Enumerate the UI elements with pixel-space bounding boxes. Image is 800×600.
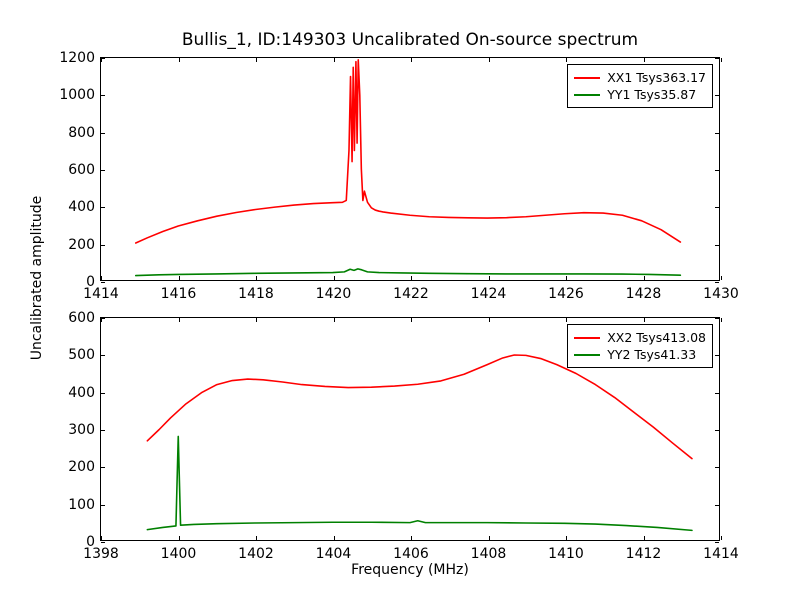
x-tick-bottom-1 [179, 536, 180, 540]
x-tick-top-bottom-4 [411, 318, 412, 322]
x-tick-bottom-3 [334, 536, 335, 540]
x-tick-label-bottom-6: 1410 [548, 546, 584, 562]
legend-swatch-icon [574, 77, 600, 79]
x-tick-top-top-1 [179, 58, 180, 62]
legend-label: XX1 Tsys363.17 [607, 70, 706, 85]
x-tick-top-3 [334, 276, 335, 280]
legend-item-top-0: XX1 Tsys363.17 [574, 69, 706, 86]
legend-item-top-1: YY1 Tsys35.87 [574, 86, 706, 103]
x-tick-label-bottom-7: 1412 [626, 546, 662, 562]
y-tick-bottom-5 [101, 355, 105, 356]
legend-item-bottom-0: XX2 Tsys413.08 [574, 329, 706, 346]
y-tick-label-top-2: 400 [68, 199, 95, 215]
legend-swatch-icon [574, 94, 600, 96]
y-tick-right-top-2 [715, 207, 719, 208]
series-line-bottom-1 [147, 436, 692, 530]
x-tick-top-bottom-6 [566, 318, 567, 322]
x-tick-top-0 [101, 276, 102, 280]
x-tick-top-bottom-8 [721, 318, 722, 322]
x-tick-top-6 [566, 276, 567, 280]
y-tick-label-top-5: 1000 [59, 87, 95, 103]
y-tick-right-top-0 [715, 282, 719, 283]
x-tick-top-bottom-2 [256, 318, 257, 322]
y-tick-right-bottom-0 [715, 542, 719, 543]
y-tick-label-bottom-6: 600 [68, 310, 95, 326]
x-tick-label-bottom-4: 1406 [393, 546, 429, 562]
y-tick-bottom-2 [101, 467, 105, 468]
x-tick-label-bottom-2: 1402 [238, 546, 274, 562]
x-tick-label-top-8: 1430 [703, 286, 739, 302]
x-tick-bottom-2 [256, 536, 257, 540]
x-tick-bottom-7 [644, 536, 645, 540]
legend-top: XX1 Tsys363.17YY1 Tsys35.87 [567, 64, 713, 108]
x-tick-top-top-4 [411, 58, 412, 62]
y-tick-bottom-0 [101, 542, 105, 543]
y-tick-label-bottom-5: 500 [68, 347, 95, 363]
x-tick-top-top-3 [334, 58, 335, 62]
y-tick-right-bottom-2 [715, 467, 719, 468]
y-tick-right-bottom-4 [715, 393, 719, 394]
y-tick-label-top-6: 1200 [59, 50, 95, 66]
y-tick-right-bottom-3 [715, 430, 719, 431]
y-tick-right-top-3 [715, 170, 719, 171]
series-line-bottom-0 [147, 355, 692, 459]
x-tick-top-top-6 [566, 58, 567, 62]
x-tick-top-2 [256, 276, 257, 280]
plot-panel-top: XX1 Tsys363.17YY1 Tsys35.87 020040060080… [100, 57, 720, 281]
x-tick-label-top-7: 1428 [626, 286, 662, 302]
legend-label: XX2 Tsys413.08 [607, 330, 706, 345]
x-tick-label-top-2: 1418 [238, 286, 274, 302]
x-tick-top-8 [721, 276, 722, 280]
x-tick-label-top-6: 1426 [548, 286, 584, 302]
y-tick-top-0 [101, 282, 105, 283]
x-tick-top-bottom-7 [644, 318, 645, 322]
figure-title: Bullis_1, ID:149303 Uncalibrated On-sour… [100, 30, 720, 50]
x-tick-label-top-3: 1420 [316, 286, 352, 302]
y-tick-right-top-1 [715, 245, 719, 246]
figure-canvas: Bullis_1, ID:149303 Uncalibrated On-sour… [0, 0, 800, 600]
x-tick-label-top-0: 1414 [83, 286, 119, 302]
y-tick-label-bottom-3: 300 [68, 422, 95, 438]
y-tick-label-bottom-2: 200 [68, 459, 95, 475]
y-tick-right-top-6 [715, 58, 719, 59]
plot-panel-bottom: XX2 Tsys413.08YY2 Tsys41.33 010020030040… [100, 317, 720, 541]
x-tick-top-bottom-5 [489, 318, 490, 322]
x-axis-label: Frequency (MHz) [100, 562, 720, 578]
y-tick-label-bottom-4: 400 [68, 385, 95, 401]
y-tick-right-top-5 [715, 95, 719, 96]
legend-label: YY2 Tsys41.33 [607, 347, 696, 362]
x-tick-label-top-5: 1424 [471, 286, 507, 302]
y-axis-label: Uncalibrated amplitude [29, 163, 45, 393]
x-tick-top-5 [489, 276, 490, 280]
y-tick-bottom-3 [101, 430, 105, 431]
x-tick-bottom-8 [721, 536, 722, 540]
x-tick-label-top-1: 1416 [161, 286, 197, 302]
y-tick-top-5 [101, 95, 105, 96]
y-tick-top-4 [101, 133, 105, 134]
x-tick-bottom-6 [566, 536, 567, 540]
x-tick-top-bottom-0 [101, 318, 102, 322]
y-tick-label-bottom-1: 100 [68, 497, 95, 513]
x-tick-top-top-2 [256, 58, 257, 62]
y-tick-right-bottom-1 [715, 505, 719, 506]
y-tick-bottom-1 [101, 505, 105, 506]
x-tick-top-1 [179, 276, 180, 280]
y-tick-right-bottom-6 [715, 318, 719, 319]
series-line-top-1 [136, 269, 681, 276]
x-tick-label-bottom-1: 1400 [161, 546, 197, 562]
x-tick-label-top-4: 1422 [393, 286, 429, 302]
y-tick-top-1 [101, 245, 105, 246]
x-tick-top-top-7 [644, 58, 645, 62]
y-tick-right-top-4 [715, 133, 719, 134]
y-tick-right-bottom-5 [715, 355, 719, 356]
x-tick-top-7 [644, 276, 645, 280]
y-tick-top-2 [101, 207, 105, 208]
x-tick-top-top-5 [489, 58, 490, 62]
y-tick-label-top-1: 200 [68, 237, 95, 253]
x-tick-top-4 [411, 276, 412, 280]
legend-bottom: XX2 Tsys413.08YY2 Tsys41.33 [567, 324, 713, 368]
legend-label: YY1 Tsys35.87 [607, 87, 696, 102]
x-tick-top-top-0 [101, 58, 102, 62]
x-tick-label-bottom-8: 1414 [703, 546, 739, 562]
y-tick-label-top-4: 800 [68, 125, 95, 141]
x-tick-bottom-5 [489, 536, 490, 540]
x-tick-top-bottom-3 [334, 318, 335, 322]
x-tick-top-top-8 [721, 58, 722, 62]
legend-swatch-icon [574, 337, 600, 339]
x-tick-label-bottom-5: 1408 [471, 546, 507, 562]
x-tick-label-bottom-0: 1398 [83, 546, 119, 562]
legend-swatch-icon [574, 354, 600, 356]
y-tick-label-top-3: 600 [68, 162, 95, 178]
x-tick-bottom-4 [411, 536, 412, 540]
y-tick-bottom-4 [101, 393, 105, 394]
y-tick-top-3 [101, 170, 105, 171]
legend-item-bottom-1: YY2 Tsys41.33 [574, 346, 706, 363]
x-tick-bottom-0 [101, 536, 102, 540]
x-tick-label-bottom-3: 1404 [316, 546, 352, 562]
x-tick-top-bottom-1 [179, 318, 180, 322]
